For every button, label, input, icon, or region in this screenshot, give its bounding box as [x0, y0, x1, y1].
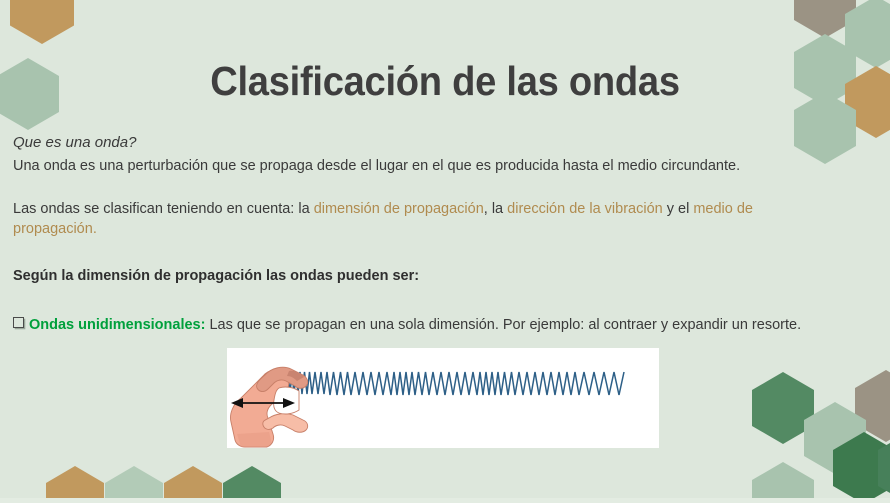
hand-spring-diagram	[227, 348, 659, 448]
accent-dimension-propagacion: dimensión de propagación	[314, 201, 484, 217]
accent-direccion-vibracion: dirección de la vibración	[507, 201, 663, 217]
square-bullet-icon	[13, 317, 24, 328]
bullet-description: Las que se propagan en una sola dimensió…	[209, 315, 801, 336]
bullet-term-label: Ondas unidimensionales:	[29, 315, 205, 336]
section-heading: Según la dimensión de propagación las on…	[13, 266, 803, 287]
slide-body: Que es una onda? Una onda es una perturb…	[13, 132, 803, 335]
spring-illustration-frame	[227, 348, 659, 448]
classify-text-part4: .	[93, 221, 97, 237]
question-heading: Que es una onda?	[13, 132, 803, 153]
list-item: Ondas unidimensionales: Las que se propa…	[13, 315, 803, 336]
hexagon-tan-top-left	[10, 0, 74, 44]
classification-paragraph: Las ondas se clasifican teniendo en cuen…	[13, 199, 785, 240]
classify-text-part1: Las ondas se clasifican teniendo en cuen…	[13, 201, 314, 217]
hexagon-sage-bottom-right-b	[752, 462, 814, 503]
definition-paragraph: Una onda es una perturbación que se prop…	[13, 156, 803, 177]
slide-canvas: Clasificación de las ondas Que es una on…	[0, 0, 890, 503]
classify-text-part3: y el	[663, 201, 694, 217]
classify-text-part2: , la	[484, 201, 507, 217]
spring-coil-icon	[282, 372, 624, 395]
bottom-edge-strip	[0, 498, 890, 503]
page-title: Clasificación de las ondas	[31, 58, 859, 105]
